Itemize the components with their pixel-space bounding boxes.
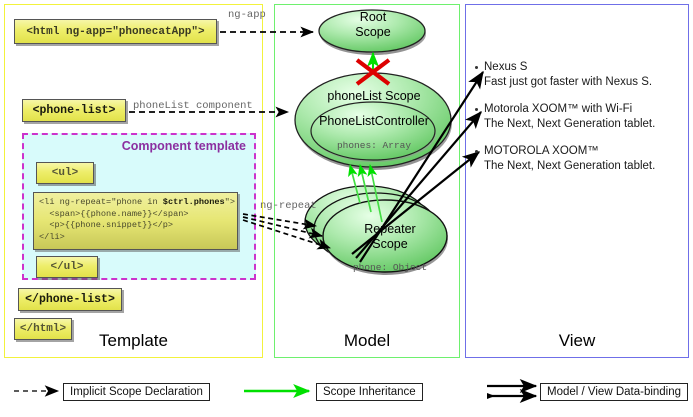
code-box-ul-close[interactable]: </ul> [36,256,98,278]
edge-label-ng-app: ng-app [228,9,266,21]
ng-repeat-line3: <p>{{phone.snippet}}</p> [39,220,173,230]
code-box-ul-open[interactable]: <ul> [36,162,94,184]
bullet-icon [475,66,478,69]
code-box-phone-list-open[interactable]: <phone-list> [22,99,126,122]
ng-repeat-line1-suffix: "> [225,197,235,207]
code-box-phone-list-close[interactable]: </phone-list> [18,288,122,311]
bullet-icon [475,108,478,111]
legend: Implicit Scope Declaration Scope Inherit… [0,372,693,417]
ng-repeat-expression: $ctrl.phones [163,197,225,207]
panel-label-view: View [465,331,689,351]
list-item-snippet: Fast just got faster with Nexus S. [484,75,684,90]
legend-item-scope-inheritance: Scope Inheritance [316,383,423,401]
edge-label-phonelist-component: phoneList component [133,100,253,112]
diagram-canvas: Component template [0,0,693,417]
list-item-title: MOTOROLA XOOM™ [484,144,684,159]
ng-repeat-line2: <span>{{phone.name}}</span> [39,209,189,219]
list-item[interactable]: Motorola XOOM™ with Wi-Fi The Next, Next… [484,102,684,132]
list-item[interactable]: Nexus S Fast just got faster with Nexus … [484,60,684,90]
code-box-ng-repeat[interactable]: <li ng-repeat="phone in $ctrl.phones"> <… [33,192,238,250]
legend-item-implicit-scope-declaration: Implicit Scope Declaration [63,383,210,401]
panel-label-template: Template [4,331,263,351]
list-item-title: Motorola XOOM™ with Wi-Fi [484,102,684,117]
edge-label-ng-repeat: ng-repeat [260,200,317,212]
list-item-title: Nexus S [484,60,684,75]
view-phone-list: Nexus S Fast just got faster with Nexus … [484,60,684,186]
ng-repeat-line4: </li> [39,232,65,242]
panel-label-model: Model [274,331,460,351]
ng-repeat-line1-prefix: <li ng-repeat="phone in [39,197,163,207]
component-template-label: Component template [122,139,246,153]
list-item[interactable]: MOTOROLA XOOM™ The Next, Next Generation… [484,144,684,174]
panel-model [274,4,460,358]
list-item-snippet: The Next, Next Generation tablet. [484,117,684,132]
code-box-html-tag[interactable]: <html ng-app="phonecatApp"> [14,19,217,44]
list-item-snippet: The Next, Next Generation tablet. [484,159,684,174]
bullet-icon [475,150,478,153]
legend-item-model-view-data-binding: Model / View Data-binding [540,383,688,401]
